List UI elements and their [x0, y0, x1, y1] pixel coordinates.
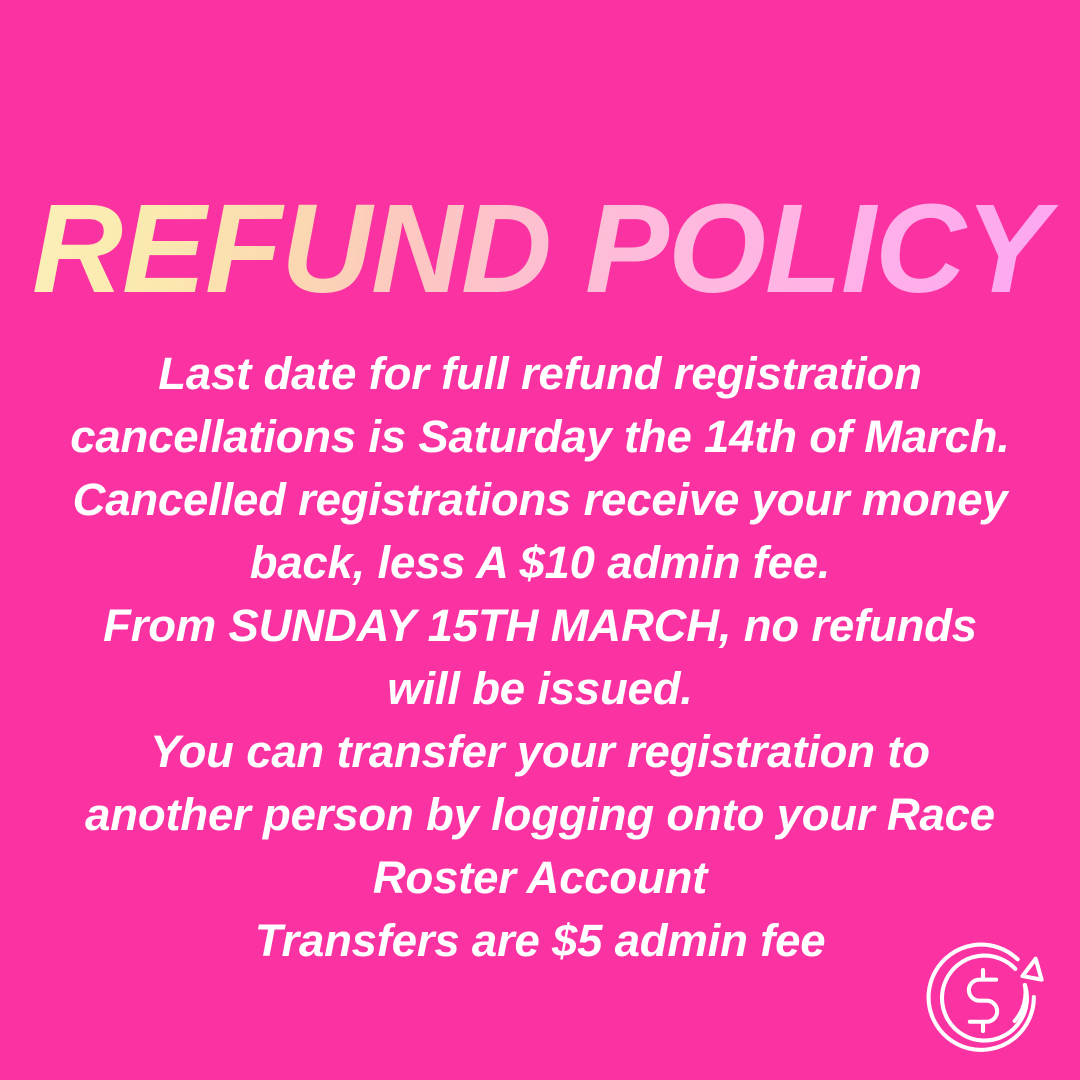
policy-paragraph-2: Cancelled registrations receive your mon…: [62, 468, 1018, 594]
refund-icon-svg: [914, 930, 1058, 1064]
refund-policy-poster: REFUND POLICY Last date for full refund …: [0, 0, 1080, 1080]
policy-paragraph-4: You can transfer your registration to an…: [62, 720, 1018, 909]
policy-paragraph-1: Last date for full refund registration c…: [62, 342, 1018, 468]
policy-paragraph-5: Transfers are $5 admin fee: [62, 909, 1018, 972]
policy-paragraph-3: From SUNDAY 15TH MARCH, no refunds will …: [62, 594, 1018, 720]
refund-money-back-icon: [914, 930, 1058, 1064]
policy-body: Last date for full refund registration c…: [62, 342, 1018, 972]
page-title: REFUND POLICY: [0, 186, 1080, 312]
